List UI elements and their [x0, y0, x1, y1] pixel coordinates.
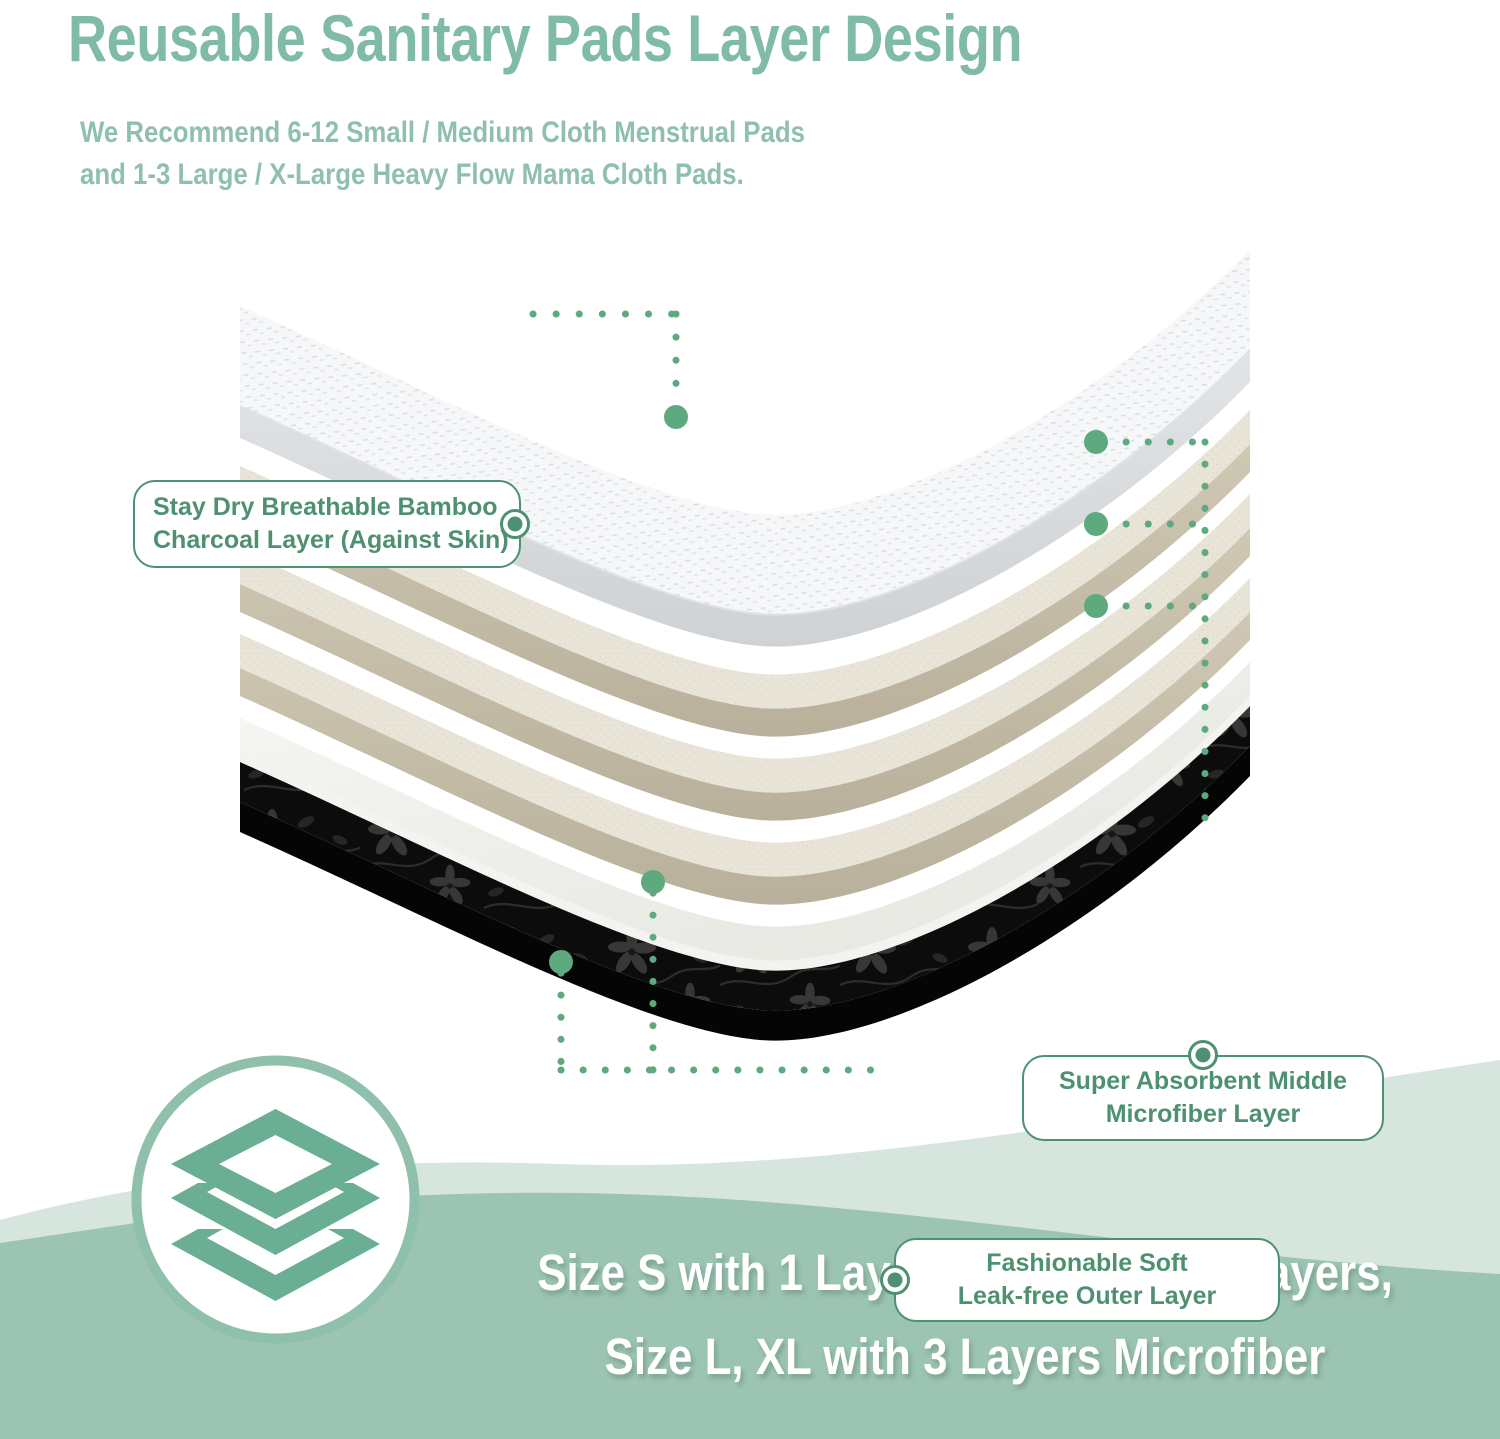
page-subtitle: We Recommend 6-12 Small / Medium Cloth M…	[80, 112, 805, 196]
callout-stay-dry-bamboo-charcoal[interactable]: Stay Dry Breathable Bamboo Charcoal Laye…	[133, 480, 521, 568]
callout-top-anchor-dot	[500, 509, 530, 539]
page-title: Reusable Sanitary Pads Layer Design	[68, 2, 1022, 74]
callout-bottom-line-2: Leak-free Outer Layer	[958, 1280, 1216, 1313]
callout-bottom-line-1: Fashionable Soft	[958, 1247, 1216, 1280]
connector-dot-microfiber-2	[1084, 512, 1108, 536]
callout-top-line-1: Stay Dry Breathable Bamboo	[153, 491, 509, 524]
callout-bottom-anchor-dot	[880, 1265, 910, 1295]
header: Reusable Sanitary Pads Layer Design We R…	[0, 0, 1500, 210]
subtitle-line-1: We Recommend 6-12 Small / Medium Cloth M…	[80, 112, 805, 154]
connector-dot-outer-1	[641, 870, 665, 894]
callout-middle-line-2: Microfiber Layer	[1059, 1098, 1347, 1131]
exploded-layer-diagram	[0, 210, 1500, 1100]
stacked-layers-logo	[128, 1052, 423, 1347]
banner-line-2: Size L, XL with 3 Layers Microfiber	[526, 1315, 1403, 1399]
connector-dot-outer-2	[549, 950, 573, 974]
subtitle-line-2: and 1-3 Large / X-Large Heavy Flow Mama …	[80, 154, 805, 196]
connector-top-layer	[533, 314, 676, 406]
callout-middle-anchor-dot	[1188, 1040, 1218, 1070]
connector-dot-top-layer	[664, 405, 688, 429]
layer-stack-illustration: Stay Dry Breathable Bamboo Charcoal Laye…	[0, 210, 1500, 1100]
callout-fashionable-leak-free[interactable]: Fashionable Soft Leak-free Outer Layer	[894, 1238, 1280, 1322]
callout-top-line-2: Charcoal Layer (Against Skin)	[153, 524, 509, 557]
connector-dot-microfiber-1	[1084, 430, 1108, 454]
connector-dot-microfiber-3	[1084, 594, 1108, 618]
